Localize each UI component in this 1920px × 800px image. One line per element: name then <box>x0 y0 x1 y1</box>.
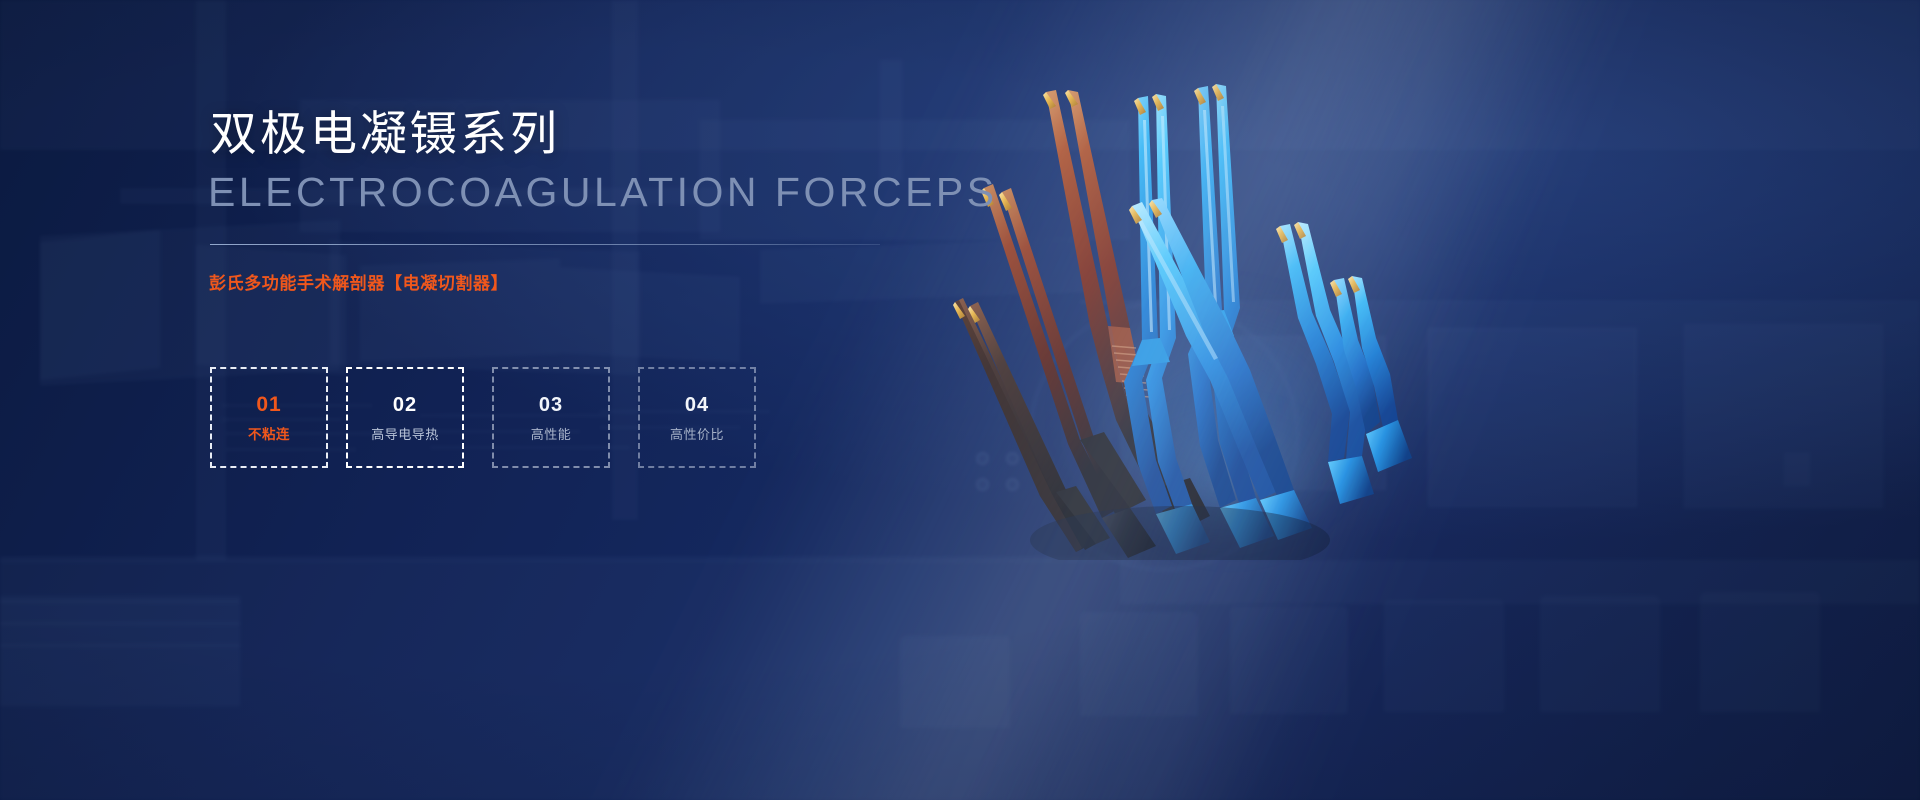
feature-box-01[interactable]: 01 不粘连 <box>210 367 328 468</box>
feature-number-03: 03 <box>539 395 563 415</box>
feature-number-02: 02 <box>393 395 417 415</box>
product-hero-banner: 双极电凝镊系列 ELECTROCOAGULATION FORCEPS 彭氏多功能… <box>0 0 1920 800</box>
feature-label-03: 高性能 <box>531 428 572 441</box>
banner-title-en: ELECTROCOAGULATION FORCEPS <box>208 172 998 213</box>
feature-number-04: 04 <box>685 395 709 415</box>
title-divider <box>210 244 880 245</box>
feature-box-04[interactable]: 04 高性价比 <box>638 367 756 468</box>
banner-content: 双极电凝镊系列 ELECTROCOAGULATION FORCEPS 彭氏多功能… <box>0 0 1920 800</box>
feature-label-04: 高性价比 <box>670 428 724 441</box>
banner-title-cn: 双极电凝镊系列 <box>210 110 560 157</box>
feature-label-02: 高导电导热 <box>371 428 439 441</box>
feature-number-01: 01 <box>256 394 281 415</box>
feature-box-03[interactable]: 03 高性能 <box>492 367 610 468</box>
feature-label-01: 不粘连 <box>248 428 290 442</box>
feature-box-02[interactable]: 02 高导电导热 <box>346 367 464 468</box>
banner-subtitle: 彭氏多功能手术解剖器【电凝切割器】 <box>209 274 508 294</box>
